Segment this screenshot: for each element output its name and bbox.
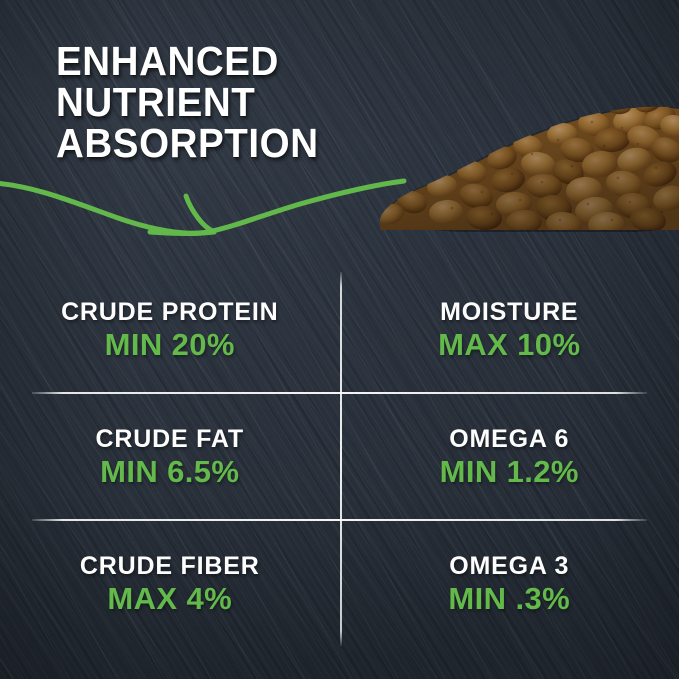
headline-line-3: ABSORPTION [56,123,451,164]
nutrient-label: CRUDE PROTEIN [61,297,278,327]
nutrition-table: CRUDE PROTEIN MIN 20% MOISTURE MAX 10% C… [0,266,679,658]
nutrition-cell-crude-fiber: CRUDE FIBER MAX 4% [0,520,340,646]
nutrition-cell-omega-3: OMEGA 3 MIN .3% [340,520,679,646]
nutrition-cell-crude-protein: CRUDE PROTEIN MIN 20% [0,266,340,392]
headline-line-1: ENHANCED [56,41,451,82]
nutrient-label: CRUDE FAT [96,424,244,454]
nutrient-value: MIN .3% [448,581,570,617]
headline-line-2: NUTRIENT [56,82,451,123]
nutrition-cell-omega-6: OMEGA 6 MIN 1.2% [340,393,679,519]
nutrient-label: OMEGA 3 [449,551,569,581]
nutrient-label: MOISTURE [440,297,578,327]
nutrition-cell-moisture: MOISTURE MAX 10% [340,266,679,392]
nutrient-value: MAX 4% [107,581,232,617]
nutrient-label: CRUDE FIBER [80,551,260,581]
nutrition-cell-crude-fat: CRUDE FAT MIN 6.5% [0,393,340,519]
page-title: ENHANCED NUTRIENT ABSORPTION [56,41,451,164]
nutrient-value: MIN 20% [105,327,235,363]
nutrition-infographic: CRUDE PROTEIN MIN 20% MOISTURE MAX 10% C… [0,0,679,679]
table-vertical-divider [340,272,342,646]
curved-arrow-icon [0,160,460,280]
nutrient-value: MIN 1.2% [440,454,579,490]
nutrient-value: MIN 6.5% [100,454,239,490]
nutrient-value: MAX 10% [438,327,580,363]
nutrient-label: OMEGA 6 [449,424,569,454]
